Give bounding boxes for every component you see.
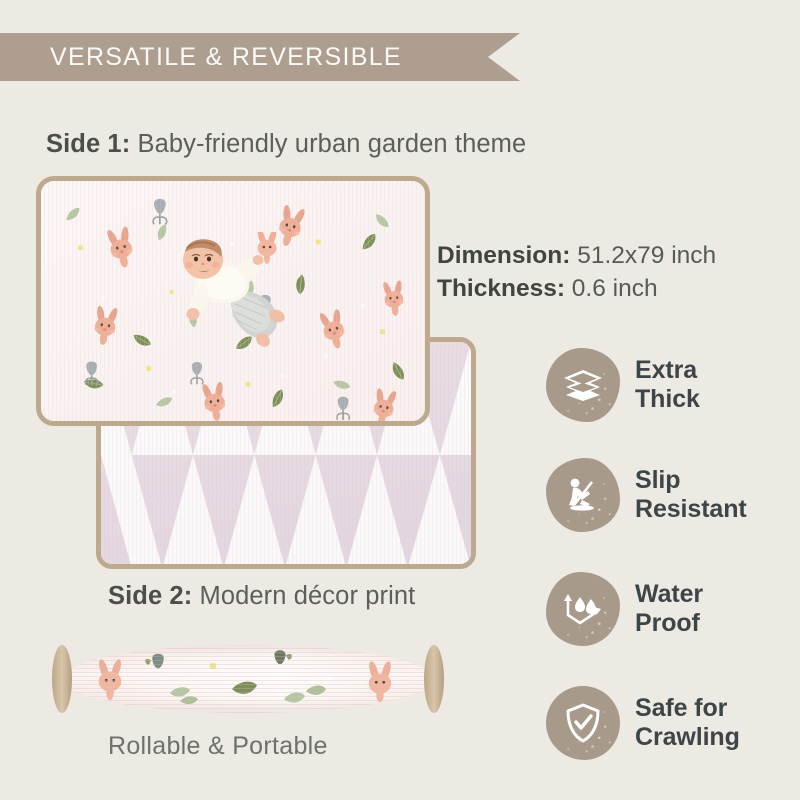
side2-description: Modern décor print bbox=[192, 582, 415, 610]
feature-badge-circle bbox=[546, 572, 620, 646]
side1-description: Baby-friendly urban garden theme bbox=[130, 130, 526, 158]
roll-cap-right bbox=[424, 645, 444, 713]
banner-ribbon: VERSATILE & REVERSIBLE bbox=[0, 33, 520, 81]
feature-slip-resistant: Slip Resistant bbox=[546, 458, 747, 532]
shield-check-icon bbox=[564, 702, 602, 744]
spec-dimension-label: Dimension: bbox=[437, 242, 570, 269]
roll-body bbox=[62, 645, 434, 713]
water-drops-icon bbox=[561, 588, 605, 630]
roll-cap-left bbox=[52, 645, 72, 713]
roll-ribbing-texture bbox=[62, 645, 434, 713]
feature-label: Safe for Crawling bbox=[635, 694, 740, 753]
side1-heading: Side 1: Baby-friendly urban garden theme bbox=[46, 130, 526, 159]
side2-label: Side 2: bbox=[108, 582, 192, 610]
feature-label: Water Proof bbox=[635, 580, 703, 639]
feature-water-proof: Water Proof bbox=[546, 572, 703, 646]
side1-label: Side 1: bbox=[46, 130, 130, 158]
rolled-mat-image bbox=[48, 645, 448, 713]
feature-badge-circle bbox=[546, 686, 620, 760]
baby-photo bbox=[163, 232, 298, 357]
side2-heading: Side 2: Modern décor print bbox=[108, 582, 415, 611]
slip-resistant-icon bbox=[562, 474, 604, 516]
feature-label: Slip Resistant bbox=[635, 466, 747, 525]
feature-badge-circle bbox=[546, 348, 620, 422]
feature-extra-thick: Extra Thick bbox=[546, 348, 700, 422]
spec-dimension: Dimension: 51.2x79 inch bbox=[437, 240, 716, 273]
feature-safe-for-crawling: Safe for Crawling bbox=[546, 686, 740, 760]
spec-thickness-label: Thickness: bbox=[437, 275, 565, 302]
feature-label: Extra Thick bbox=[635, 356, 700, 415]
spec-dimension-value: 51.2x79 inch bbox=[570, 242, 716, 269]
feature-badge-circle bbox=[546, 458, 620, 532]
spec-thickness-value: 0.6 inch bbox=[565, 275, 658, 302]
specs-block: Dimension: 51.2x79 inch Thickness: 0.6 i… bbox=[437, 240, 716, 305]
layers-icon bbox=[562, 367, 604, 403]
spec-thickness: Thickness: 0.6 inch bbox=[437, 273, 716, 306]
banner-title: VERSATILE & REVERSIBLE bbox=[0, 43, 402, 72]
infographic-page: VERSATILE & REVERSIBLE Side 1: Baby-frie… bbox=[0, 0, 800, 800]
rollable-caption: Rollable & Portable bbox=[108, 732, 328, 761]
